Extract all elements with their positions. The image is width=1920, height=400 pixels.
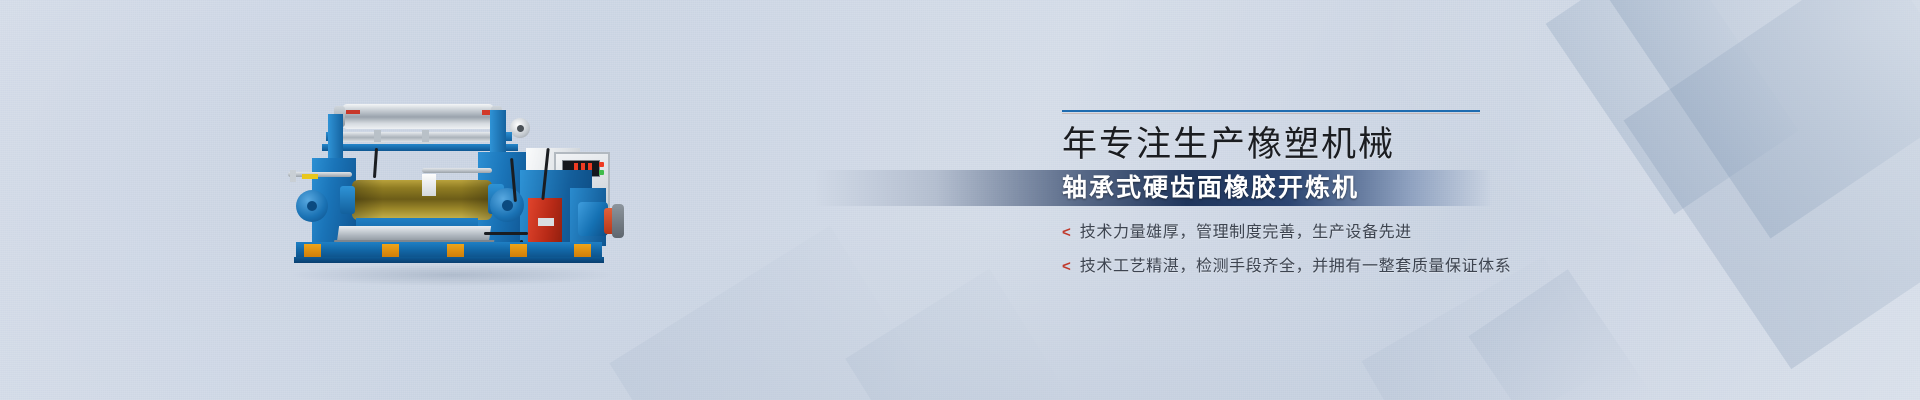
banner-headline: 年专注生产橡塑机械 — [1062, 123, 1492, 167]
banner-subtitle: 轴承式硬齿面橡胶开炼机 — [1062, 170, 1359, 206]
decorative-diagonal-band — [1603, 0, 1920, 239]
product-image-rubber-mixing-mill — [282, 92, 622, 285]
decorative-diagonal-band — [1624, 0, 1920, 369]
decorative-diagonal-band — [1468, 269, 1651, 400]
machine-upper-steel-roller — [342, 104, 494, 129]
headline-divider-underline — [1062, 113, 1480, 114]
machine-base-foot — [510, 244, 527, 257]
chevron-left-icon: < — [1062, 223, 1071, 243]
machine-base-foot — [447, 244, 464, 257]
machine-base-foot — [382, 244, 399, 257]
machine-bearing-center — [307, 201, 317, 211]
headline-divider-line — [1062, 110, 1480, 112]
machine-small-hopper — [422, 174, 436, 196]
decorative-diagonal-band — [1546, 0, 1799, 215]
machine-yellow-label — [302, 174, 318, 179]
machine-bearing-center — [502, 200, 513, 211]
machine-indicator-light — [599, 162, 604, 167]
machine-indicator-light — [599, 170, 604, 175]
machine-flywheel — [612, 204, 624, 238]
banner-feature-list: < 技术力量雄厚，管理制度完善，生产设备先进 < 技术工艺精湛，检测手段齐全，并… — [1062, 223, 1492, 291]
list-item: < 技术工艺精湛，检测手段齐全，并拥有一整套质量保证体系 — [1062, 257, 1492, 277]
machine-lower-crossbeam — [322, 144, 518, 151]
hero-banner: 年专注生产橡塑机械 轴承式硬齿面橡胶开炼机 < 技术力量雄厚，管理制度完善，生产… — [0, 0, 1920, 400]
machine-safety-rail — [288, 172, 352, 177]
machine-roller-bearing-left — [340, 186, 355, 214]
decorative-diagonal-band — [609, 226, 930, 400]
machine-rail-post — [290, 170, 296, 182]
decorative-diagonal-band — [845, 269, 1085, 400]
machine-guide-bar — [338, 132, 500, 142]
feature-text: 技术工艺精湛，检测手段齐全，并拥有一整套质量保证体系 — [1080, 257, 1512, 277]
chevron-left-icon: < — [1062, 257, 1071, 277]
machine-safety-rail — [422, 168, 492, 173]
feature-text: 技术力量雄厚，管理制度完善，生产设备先进 — [1080, 223, 1412, 243]
machine-cable — [373, 148, 378, 178]
machine-base-foot — [574, 244, 591, 257]
machine-base-lip — [294, 257, 604, 263]
machine-ground-shadow — [292, 264, 612, 286]
machine-fan-hub — [517, 125, 524, 132]
machine-cabinet-label — [538, 218, 554, 226]
machine-cable — [484, 232, 528, 235]
banner-text-block: 年专注生产橡塑机械 轴承式硬齿面橡胶开炼机 < 技术力量雄厚，管理制度完善，生产… — [1062, 110, 1492, 167]
list-item: < 技术力量雄厚，管理制度完善，生产设备先进 — [1062, 223, 1492, 243]
machine-base-foot — [304, 244, 321, 257]
machine-red-accent — [346, 110, 360, 114]
